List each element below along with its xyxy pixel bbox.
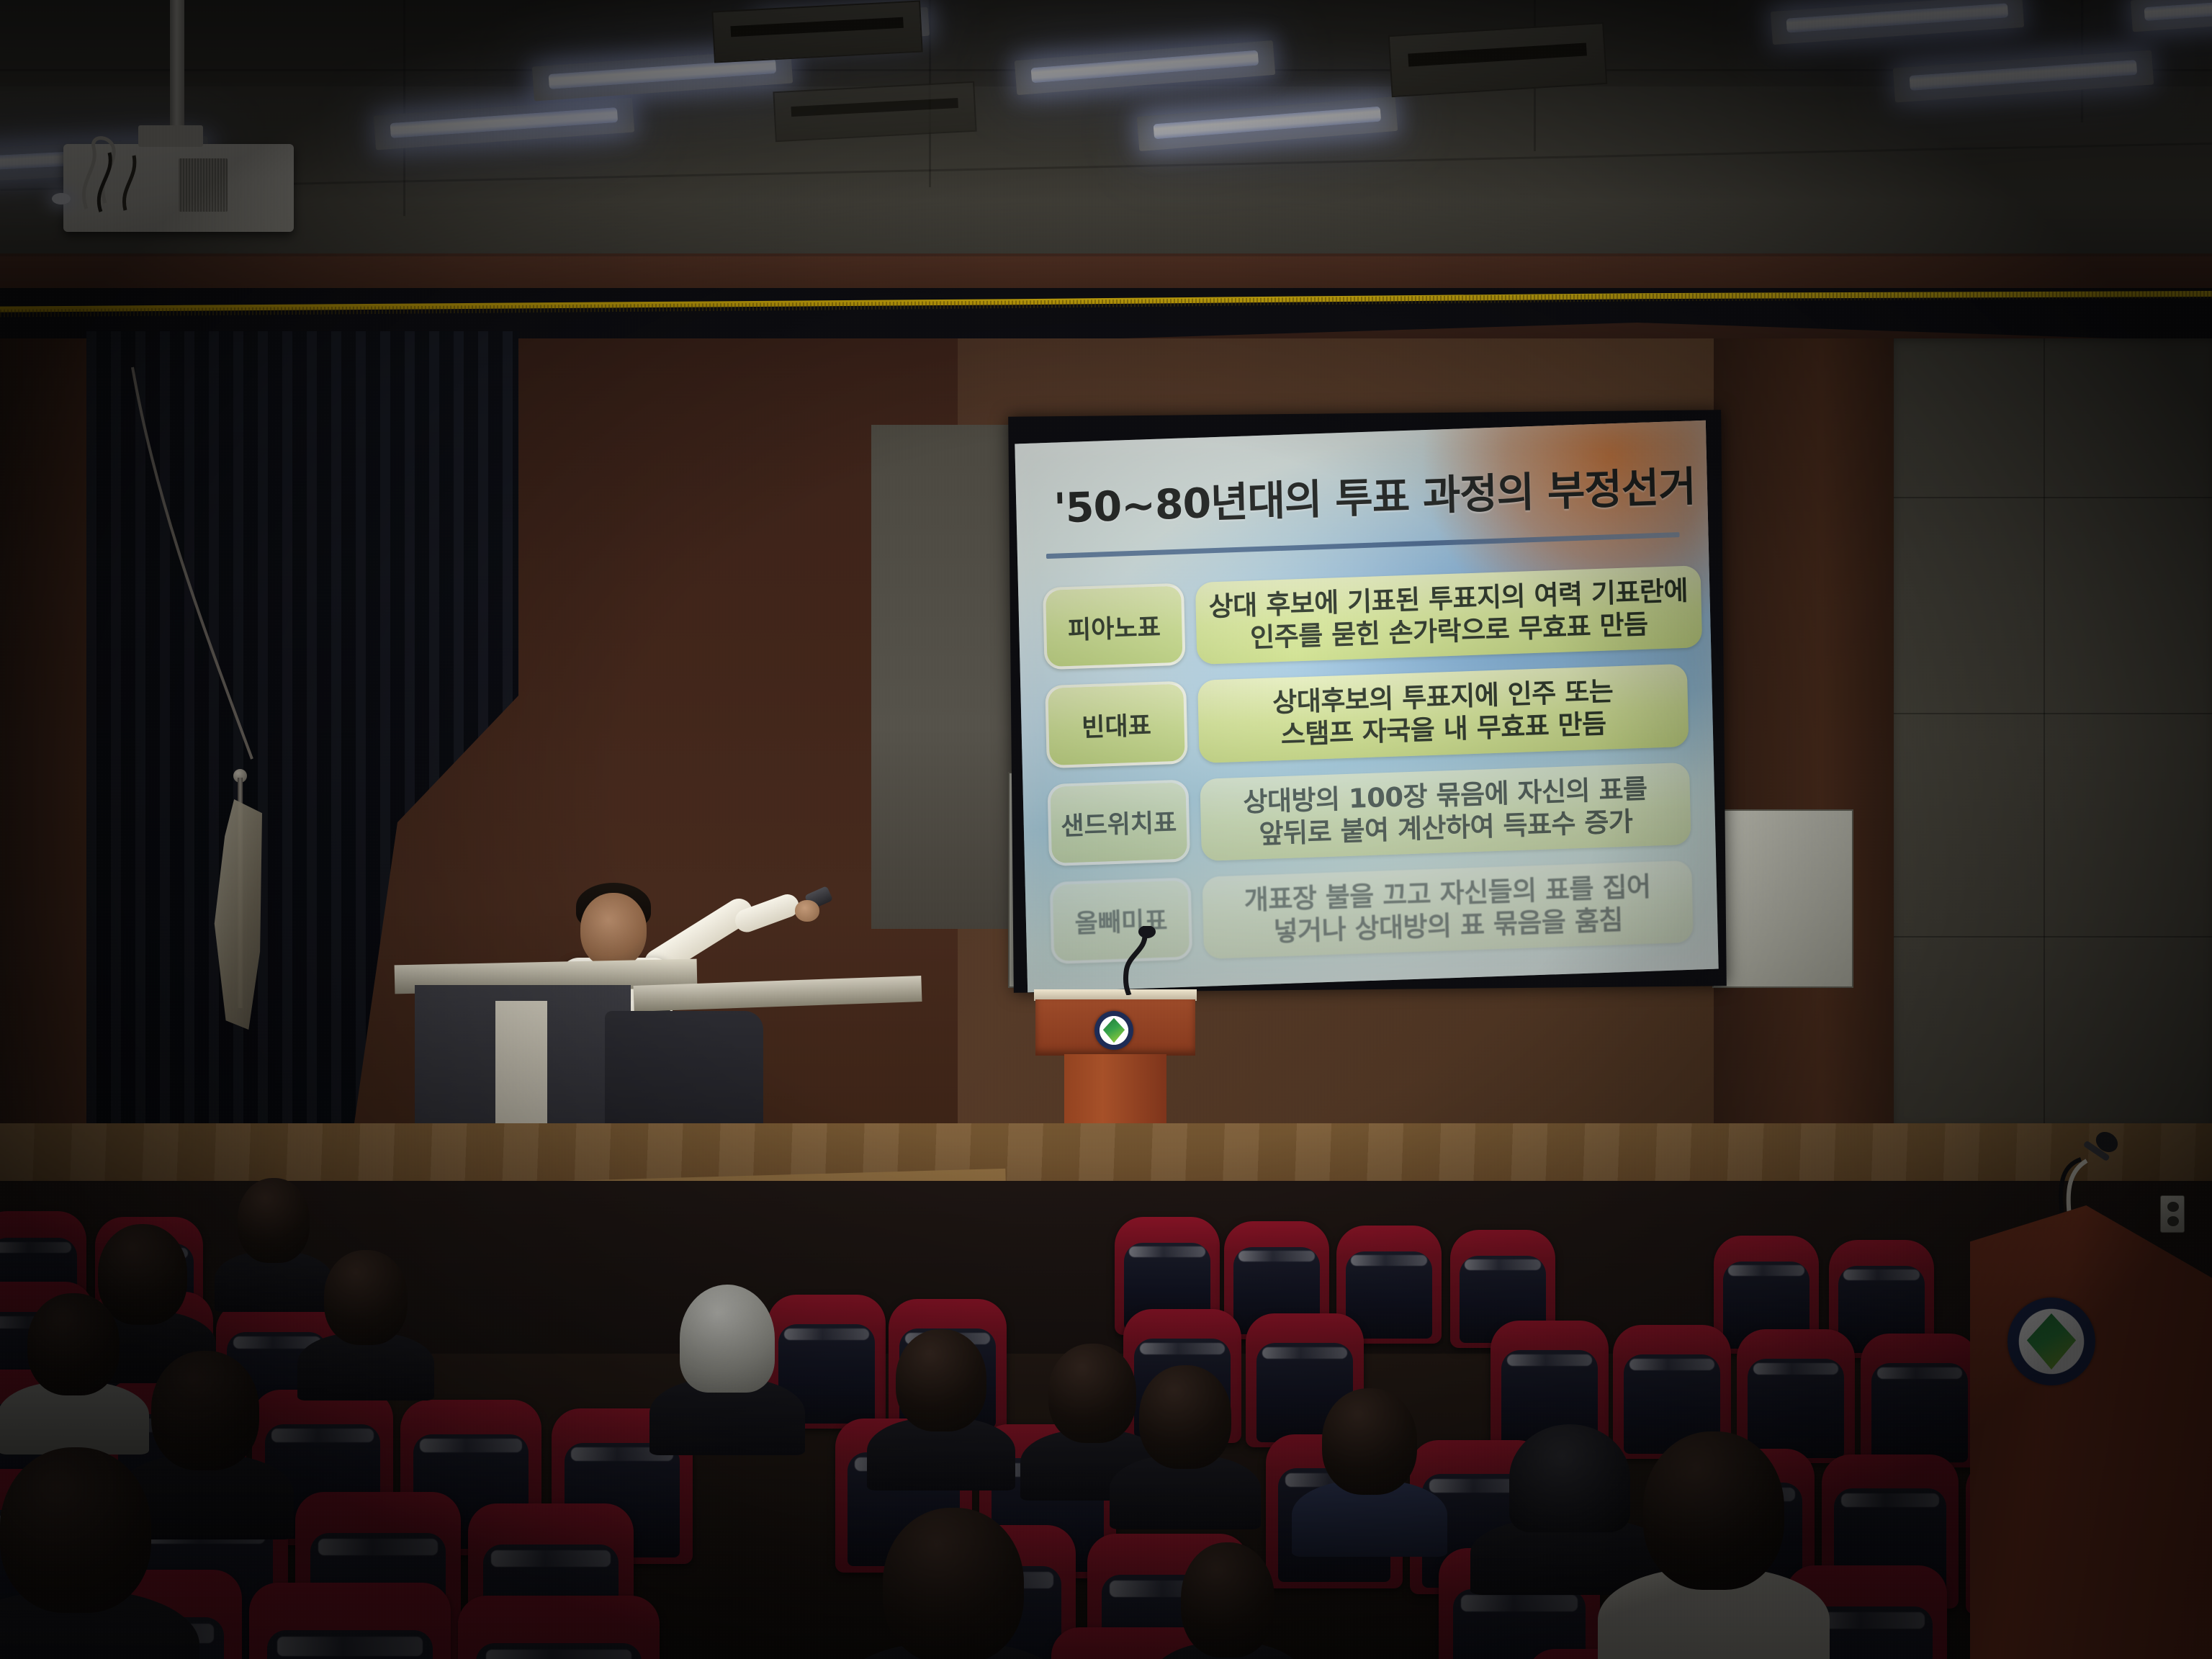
- slide-rows: 피아노표상대 후보에 기표된 투표지의 여력 기표란에인주를 묻힌 손가락으로 …: [1043, 566, 1694, 973]
- air-vent: [1388, 22, 1608, 97]
- school-crest-emblem: [1094, 1011, 1133, 1050]
- slide-title-rule: [1046, 532, 1680, 559]
- audience-member: [896, 1329, 986, 1431]
- ceiling-light: [2131, 0, 2212, 32]
- slide-row-text: 상대방의 100장 묶음에 자신의 표를앞뒤로 붙여 계산하여 득표수 증가: [1200, 762, 1691, 860]
- ceiling-projector: [63, 144, 294, 232]
- air-vent: [773, 81, 976, 143]
- ceiling: [0, 0, 2212, 288]
- audience-member: [0, 1447, 151, 1613]
- audience-member: [1048, 1344, 1136, 1443]
- acoustic-panel-right: [1887, 338, 2212, 1130]
- audience-member: [1139, 1365, 1231, 1469]
- ceiling-light: [1137, 96, 1398, 151]
- auditorium-photo: '50~80년대의 투표 과정의 부정선거 피아노표상대 후보에 기표된 투표지…: [0, 0, 2212, 1659]
- slide-row-text: 개표장 불을 끄고 자신들의 표를 집어넣거나 상대방의 표 묶음을 훔침: [1202, 860, 1694, 959]
- audience-member: [324, 1250, 408, 1345]
- curtain-rope: [128, 364, 279, 825]
- presenter-head: [580, 893, 647, 968]
- projector-lamp-glow: [52, 193, 71, 204]
- lectern-front-face: [1035, 999, 1195, 1056]
- gooseneck-microphone[interactable]: [1094, 926, 1159, 995]
- slide-row-label: 피아노표: [1043, 583, 1186, 670]
- projector-cables: [72, 131, 173, 217]
- proscenium-pillar-left: [0, 338, 86, 1145]
- audience-member-hooded: [680, 1285, 775, 1393]
- air-vent: [711, 0, 922, 63]
- crest-leaf-icon: [2027, 1313, 2076, 1370]
- slide-row-text: 상대후보의 투표지에 인주 또는스탬프 자국을 내 무효표 만듬: [1197, 664, 1689, 763]
- audience-member: [27, 1293, 120, 1395]
- wall-panel-right: [1712, 809, 1853, 988]
- slide-row: 피아노표상대 후보에 기표된 투표지의 여력 기표란에인주를 묻힌 손가락으로 …: [1043, 566, 1686, 670]
- audience-member: [883, 1508, 1024, 1659]
- presentation-slide: '50~80년대의 투표 과정의 부정선거 피아노표상대 후보에 기표된 투표지…: [1015, 421, 1718, 992]
- crest-leaf-icon: [1103, 1018, 1125, 1043]
- theatre-seat[interactable]: [249, 1583, 451, 1659]
- slide-row: 빈대표상대후보의 투표지에 인주 또는스탬프 자국을 내 무효표 만듬: [1045, 664, 1689, 768]
- presenter-hand: [795, 900, 819, 922]
- wall-power-outlet[interactable]: [2160, 1195, 2185, 1233]
- projector-vent-grille: [179, 158, 228, 212]
- projection-screen[interactable]: '50~80년대의 투표 과정의 부정선거 피아노표상대 후보에 기표된 투표지…: [1015, 421, 1718, 992]
- audience-member: [1322, 1388, 1417, 1495]
- slide-row-label: 샌드위치표: [1047, 779, 1190, 866]
- seat-row: [0, 1541, 2212, 1659]
- slide-row-text: 상대 후보에 기표된 투표지의 여력 기표란에인주를 묻힌 손가락으로 무효표 …: [1195, 565, 1702, 665]
- audience-member-with-cap: [1509, 1424, 1630, 1532]
- slide-row-label: 빈대표: [1045, 681, 1188, 768]
- audience-member: [151, 1351, 259, 1470]
- school-crest-emblem: [2008, 1298, 2095, 1385]
- slide-row: 샌드위치표상대방의 100장 묶음에 자신의 표를앞뒤로 붙여 계산하여 득표수…: [1047, 762, 1691, 866]
- audience-member: [1181, 1542, 1274, 1658]
- slide-title: '50~80년대의 투표 과정의 부정선거: [1040, 454, 1683, 535]
- ceiling-seam: [0, 143, 2211, 191]
- proscenium-pillar-right: [1714, 338, 1894, 1138]
- foreground-lectern[interactable]: [1970, 1205, 2212, 1659]
- ceiling-light: [374, 98, 634, 150]
- theatre-seat[interactable]: [458, 1596, 660, 1659]
- audience-member: [238, 1178, 310, 1263]
- audience-member: [1643, 1431, 1784, 1590]
- ceiling-seam: [403, 0, 405, 216]
- stand-microphone[interactable]: [2045, 1130, 2131, 1217]
